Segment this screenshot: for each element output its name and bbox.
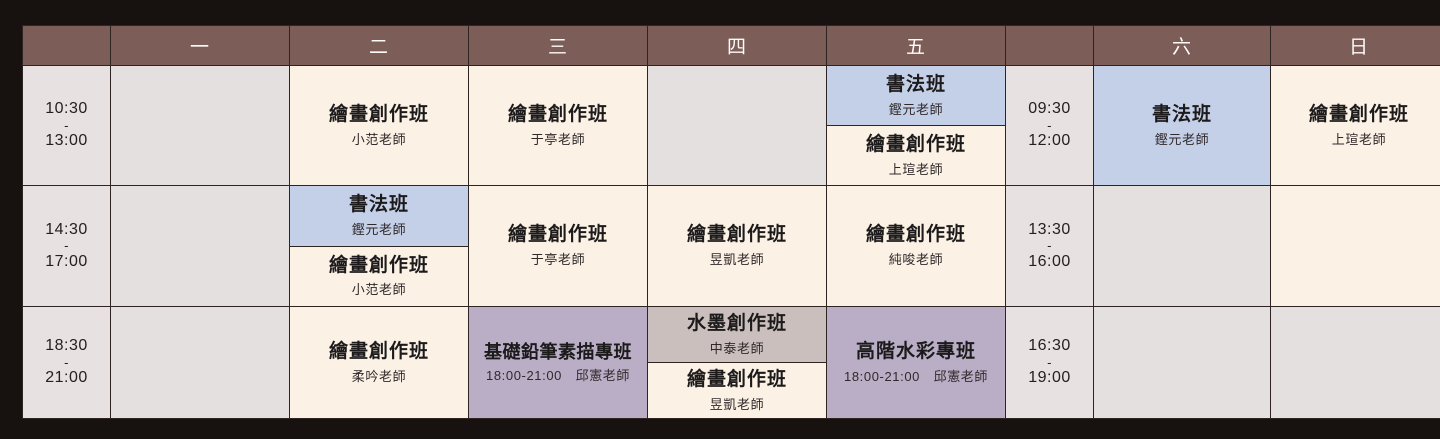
schedule-cell-thu xyxy=(648,66,827,186)
class-entry[interactable]: 高階水彩專班18:00-21:00 邱憲老師 xyxy=(827,335,1005,390)
class-entry[interactable]: 繪畫創作班上瑄老師 xyxy=(827,128,1005,183)
class-entry[interactable]: 繪畫創作班小范老師 xyxy=(290,98,468,153)
cell-content: 繪畫創作班小范老師 xyxy=(290,66,468,185)
split-part[interactable]: 繪畫創作班小范老師 xyxy=(290,246,468,307)
schedule-cell-fri[interactable]: 高階水彩專班18:00-21:00 邱憲老師 xyxy=(827,307,1006,419)
time-end: 21:00 xyxy=(23,368,110,388)
class-teacher: 柔吟老師 xyxy=(352,367,406,387)
class-entry[interactable]: 基礎鉛筆素描專班18:00-21:00 邱憲老師 xyxy=(469,336,647,390)
split-part[interactable]: 繪畫創作班昱凱老師 xyxy=(648,362,826,418)
header-time-left xyxy=(23,26,111,66)
time-start: 09:30 xyxy=(1006,99,1093,119)
time-start: 18:30 xyxy=(23,336,110,356)
class-entry[interactable]: 繪畫創作班純唆老師 xyxy=(827,218,1005,273)
time-dash: - xyxy=(1006,357,1093,369)
class-entry[interactable]: 繪畫創作班小范老師 xyxy=(290,249,468,304)
cell-content: 繪畫創作班上瑄老師 xyxy=(1271,66,1440,185)
cell-content: 繪畫創作班純唆老師 xyxy=(827,186,1005,306)
time-slot-right: 13:30-16:00 xyxy=(1006,186,1094,307)
schedule-cell-sun xyxy=(1271,307,1440,419)
table-row: 10:30-13:00繪畫創作班小范老師繪畫創作班于亭老師書法班鏗元老師繪畫創作… xyxy=(23,66,1440,186)
header-day-mon: 一 xyxy=(111,26,290,66)
class-title: 繪畫創作班 xyxy=(508,222,608,248)
header-day-sat: 六 xyxy=(1094,26,1271,66)
cell-content: 基礎鉛筆素描專班18:00-21:00 邱憲老師 xyxy=(469,307,647,418)
class-teacher: 鏗元老師 xyxy=(1155,130,1209,150)
class-title: 繪畫創作班 xyxy=(508,102,608,128)
time-end: 12:00 xyxy=(1006,131,1093,151)
schedule-cell-sat[interactable]: 書法班鏗元老師 xyxy=(1094,66,1271,186)
split-cell: 書法班鏗元老師繪畫創作班小范老師 xyxy=(290,186,468,306)
class-teacher: 上瑄老師 xyxy=(1332,130,1386,150)
class-title: 書法班 xyxy=(1152,102,1212,128)
time-start: 13:30 xyxy=(1006,220,1093,240)
schedule-cell-sat xyxy=(1094,186,1271,307)
header-day-fri: 五 xyxy=(827,26,1006,66)
class-teacher: 純唆老師 xyxy=(889,250,943,270)
header-time-right xyxy=(1006,26,1094,66)
time-dash: - xyxy=(23,120,110,132)
class-schedule-table: 一 二 三 四 五 六 日 10:30-13:00繪畫創作班小范老師繪畫創作班于… xyxy=(22,25,1440,419)
class-title: 書法班 xyxy=(349,192,409,218)
split-part[interactable]: 水墨創作班中泰老師 xyxy=(648,307,826,362)
time-end: 17:00 xyxy=(23,252,110,272)
header-day-thu: 四 xyxy=(648,26,827,66)
time-dash: - xyxy=(1006,120,1093,132)
time-start: 10:30 xyxy=(23,99,110,119)
schedule-cell-thu[interactable]: 水墨創作班中泰老師繪畫創作班昱凱老師 xyxy=(648,307,827,419)
class-entry[interactable]: 繪畫創作班昱凱老師 xyxy=(648,363,826,418)
class-title: 基礎鉛筆素描專班 xyxy=(484,340,632,364)
class-title: 繪畫創作班 xyxy=(687,222,787,248)
header-day-tue: 二 xyxy=(290,26,469,66)
split-cell: 水墨創作班中泰老師繪畫創作班昱凱老師 xyxy=(648,307,826,418)
class-teacher: 于亭老師 xyxy=(531,250,585,270)
class-teacher: 小范老師 xyxy=(352,130,406,150)
time-slot-left: 10:30-13:00 xyxy=(23,66,111,186)
time-end: 13:00 xyxy=(23,131,110,151)
class-title: 繪畫創作班 xyxy=(687,367,787,393)
time-end: 16:00 xyxy=(1006,252,1093,272)
header-day-sun: 日 xyxy=(1271,26,1440,66)
class-teacher: 鏗元老師 xyxy=(889,100,943,120)
schedule-cell-sat xyxy=(1094,307,1271,419)
class-title: 繪畫創作班 xyxy=(329,253,429,279)
cell-content: 繪畫創作班柔吟老師 xyxy=(290,307,468,418)
class-teacher: 上瑄老師 xyxy=(889,160,943,180)
class-entry[interactable]: 繪畫創作班于亭老師 xyxy=(469,218,647,273)
class-title: 繪畫創作班 xyxy=(866,222,966,248)
class-teacher: 18:00-21:00 邱憲老師 xyxy=(486,366,630,386)
class-title: 水墨創作班 xyxy=(687,311,787,337)
time-slot-right: 09:30-12:00 xyxy=(1006,66,1094,186)
schedule-cell-tue[interactable]: 繪畫創作班柔吟老師 xyxy=(290,307,469,419)
schedule-cell-mon xyxy=(111,66,290,186)
class-title: 繪畫創作班 xyxy=(329,102,429,128)
schedule-cell-tue[interactable]: 書法班鏗元老師繪畫創作班小范老師 xyxy=(290,186,469,307)
split-part[interactable]: 繪畫創作班上瑄老師 xyxy=(827,125,1005,185)
header-day-wed: 三 xyxy=(469,26,648,66)
schedule-container: 一 二 三 四 五 六 日 10:30-13:00繪畫創作班小范老師繪畫創作班于… xyxy=(22,25,1422,413)
schedule-cell-thu[interactable]: 繪畫創作班昱凱老師 xyxy=(648,186,827,307)
schedule-cell-wed[interactable]: 繪畫創作班于亭老師 xyxy=(469,66,648,186)
cell-content: 繪畫創作班于亭老師 xyxy=(469,186,647,306)
cell-content: 繪畫創作班昱凱老師 xyxy=(648,186,826,306)
class-teacher: 昱凱老師 xyxy=(710,250,764,270)
class-title: 高階水彩專班 xyxy=(856,339,976,365)
cell-content: 繪畫創作班于亭老師 xyxy=(469,66,647,185)
table-row: 18:30-21:00繪畫創作班柔吟老師基礎鉛筆素描專班18:00-21:00 … xyxy=(23,307,1440,419)
schedule-cell-wed[interactable]: 繪畫創作班于亭老師 xyxy=(469,186,648,307)
time-slot-right: 16:30-19:00 xyxy=(1006,307,1094,419)
class-entry[interactable]: 繪畫創作班昱凱老師 xyxy=(648,218,826,273)
schedule-cell-mon xyxy=(111,186,290,307)
class-teacher: 昱凱老師 xyxy=(710,395,764,415)
table-row: 14:30-17:00書法班鏗元老師繪畫創作班小范老師繪畫創作班于亭老師繪畫創作… xyxy=(23,186,1440,307)
time-dash: - xyxy=(23,240,110,252)
schedule-cell-fri[interactable]: 繪畫創作班純唆老師 xyxy=(827,186,1006,307)
split-part[interactable]: 書法班鏗元老師 xyxy=(290,186,468,246)
class-title: 繪畫創作班 xyxy=(329,339,429,365)
schedule-cell-wed[interactable]: 基礎鉛筆素描專班18:00-21:00 邱憲老師 xyxy=(469,307,648,419)
split-part[interactable]: 書法班鏗元老師 xyxy=(827,66,1005,125)
class-title: 繪畫創作班 xyxy=(866,132,966,158)
time-end: 19:00 xyxy=(1006,368,1093,388)
time-start: 16:30 xyxy=(1006,336,1093,356)
class-title: 書法班 xyxy=(886,72,946,98)
time-start: 14:30 xyxy=(23,220,110,240)
cell-content: 書法班鏗元老師 xyxy=(1094,66,1270,185)
cell-content: 高階水彩專班18:00-21:00 邱憲老師 xyxy=(827,307,1005,418)
split-cell: 書法班鏗元老師繪畫創作班上瑄老師 xyxy=(827,66,1005,185)
class-teacher: 小范老師 xyxy=(352,280,406,300)
time-slot-left: 14:30-17:00 xyxy=(23,186,111,307)
class-entry[interactable]: 繪畫創作班柔吟老師 xyxy=(290,335,468,390)
time-slot-left: 18:30-21:00 xyxy=(23,307,111,419)
schedule-cell-fri[interactable]: 書法班鏗元老師繪畫創作班上瑄老師 xyxy=(827,66,1006,186)
schedule-body: 10:30-13:00繪畫創作班小范老師繪畫創作班于亭老師書法班鏗元老師繪畫創作… xyxy=(23,66,1440,419)
class-teacher: 中泰老師 xyxy=(710,339,764,359)
time-dash: - xyxy=(23,357,110,369)
schedule-cell-sun[interactable]: 繪畫創作班上瑄老師 xyxy=(1271,66,1440,186)
schedule-cell-sun xyxy=(1271,186,1440,307)
class-teacher: 鏗元老師 xyxy=(352,220,406,240)
class-entry[interactable]: 水墨創作班中泰老師 xyxy=(648,307,826,362)
class-teacher: 18:00-21:00 邱憲老師 xyxy=(844,367,988,387)
class-entry[interactable]: 書法班鏗元老師 xyxy=(1094,98,1270,153)
time-dash: - xyxy=(1006,240,1093,252)
class-entry[interactable]: 繪畫創作班上瑄老師 xyxy=(1271,98,1440,153)
class-entry[interactable]: 繪畫創作班于亭老師 xyxy=(469,98,647,153)
class-entry[interactable]: 書法班鏗元老師 xyxy=(290,188,468,243)
class-teacher: 于亭老師 xyxy=(531,130,585,150)
schedule-cell-mon xyxy=(111,307,290,419)
table-header-row: 一 二 三 四 五 六 日 xyxy=(23,26,1440,66)
class-title: 繪畫創作班 xyxy=(1309,102,1409,128)
schedule-cell-tue[interactable]: 繪畫創作班小范老師 xyxy=(290,66,469,186)
class-entry[interactable]: 書法班鏗元老師 xyxy=(827,68,1005,123)
